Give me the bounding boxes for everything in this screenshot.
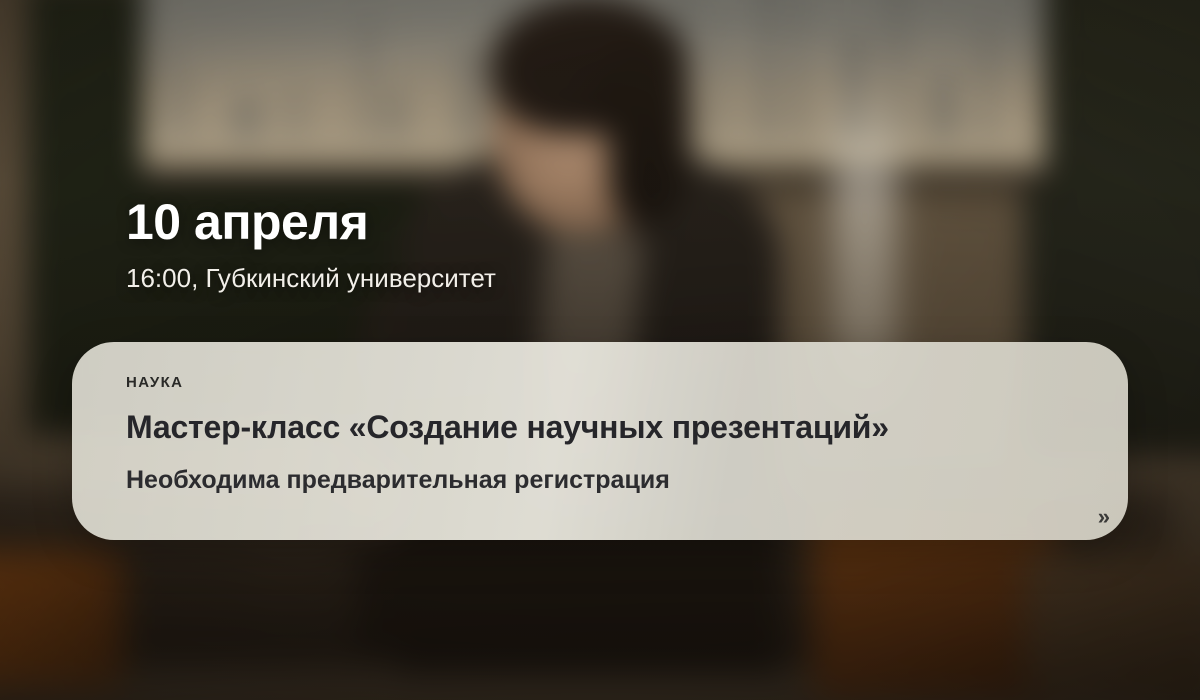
- slide-glyph: [290, 85, 301, 140]
- event-info-card-content: НАУКА Мастер-класс «Создание научных пре…: [72, 342, 1128, 495]
- slide-glyph: [757, 0, 774, 140]
- chevron-right-icon[interactable]: »: [1098, 504, 1106, 530]
- slide-glyph: [184, 77, 191, 141]
- slide-glyph: [363, 15, 374, 140]
- slide-glyph: [460, 47, 483, 140]
- slide-glyph: [233, 96, 261, 141]
- slide-glyph: [714, 4, 724, 140]
- slide-glyph: [929, 74, 959, 140]
- event-time-and-venue: 16:00, Губкинский университет: [126, 263, 886, 294]
- headline-block: 10 апреля 16:00, Губкинский университет: [126, 196, 886, 294]
- category-label: НАУКА: [126, 374, 1074, 391]
- event-title: Мастер-класс «Создание научных презентац…: [126, 409, 1074, 446]
- slide-glyph: [388, 89, 405, 140]
- chair-far-right: [1024, 551, 1200, 699]
- chair-left: [0, 551, 123, 689]
- event-registration-note: Необходима предварительная регистрация: [126, 466, 1074, 495]
- event-date: 10 апреля: [126, 196, 886, 249]
- slide-glyph: [793, 0, 805, 140]
- slide-glyph: [982, 26, 993, 140]
- speaker-glasses: [500, 91, 591, 119]
- event-info-card[interactable]: НАУКА Мастер-класс «Создание научных пре…: [72, 342, 1128, 540]
- poster-canvas: 10 апреля 16:00, Губкинский университет …: [0, 0, 1200, 700]
- slide-glyph: [165, 38, 175, 140]
